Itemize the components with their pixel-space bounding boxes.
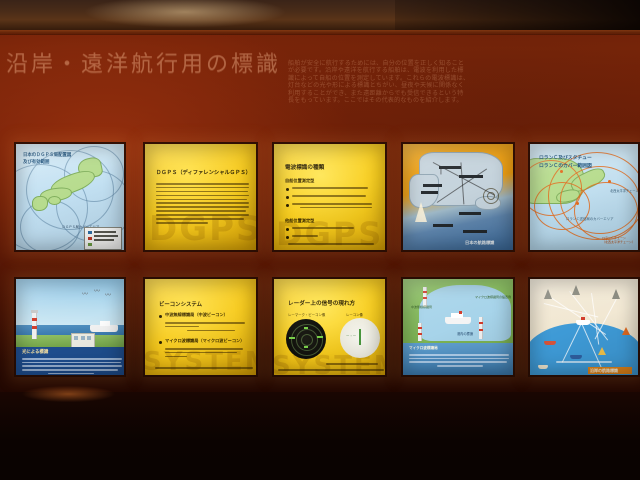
seagull-icon: 〰: [94, 286, 100, 295]
chain-label: 北西太平洋チェーン: [610, 188, 638, 193]
text-line: [156, 199, 247, 201]
chart-label-bar: [459, 212, 481, 215]
building-window: [74, 336, 78, 340]
text-line: [437, 365, 483, 367]
section-heading: 中波無線標識局（中波ビーコン）: [165, 312, 228, 318]
transmitter-marker: [560, 170, 563, 173]
map-title: ロランＣ及びスタチュー: [539, 154, 592, 161]
panel-lighthouse-scene[interactable]: 〰 〰 〰 光による標識: [14, 277, 126, 377]
text-line: [155, 367, 253, 369]
board-bottom-note: [278, 369, 384, 373]
description-line: 利用することができ、また遠距離からでも受信できるという特: [288, 90, 588, 97]
text-line: [292, 227, 354, 229]
text-line: [288, 243, 374, 245]
caption-title: 港内の標識: [457, 331, 473, 336]
list-bullet: [286, 236, 289, 239]
list-item: [288, 243, 374, 247]
racon-mark: ー・ー: [346, 333, 356, 338]
text-line: [165, 322, 245, 324]
panel-loran-chain[interactable]: ロランＣ及びスタチュー ロランＣのカバー範囲図 北西太平洋チェーン ロランＣ送信…: [528, 142, 640, 252]
text-line: [156, 206, 249, 208]
chart-caption: 日本の航路標識: [465, 240, 494, 246]
text-line: [292, 195, 366, 197]
beacon-tower-left: [423, 287, 427, 307]
building-window: [87, 336, 91, 340]
tower-band: [479, 322, 483, 324]
buoy-icon: [622, 327, 630, 335]
chart-caption: 沿岸の航路標識: [590, 368, 618, 374]
text-line: [22, 362, 121, 364]
list-bullet: [159, 315, 162, 318]
text-line: [156, 195, 249, 197]
panel-coastal-rays[interactable]: 沿岸の航路標識: [528, 277, 640, 377]
description-line: 灯台などの光や形による標識とちがい、昼夜や天候に関係なく: [288, 82, 588, 89]
sail-marker: [415, 202, 427, 222]
text-line: [156, 191, 248, 193]
list-bullet: [159, 341, 162, 344]
legend-swatch: [88, 243, 93, 246]
buoy-icon: [598, 347, 606, 355]
text-line: [409, 358, 509, 360]
radar-blip: [289, 337, 295, 339]
chart-label-bar: [439, 166, 461, 169]
text-line: [556, 361, 612, 363]
exhibit-description: 船舶が安全に航行するためには、自分の位置を正しく知ること が必要です。沿岸や遠洋…: [288, 60, 588, 104]
landmass-shikoku: [48, 196, 61, 205]
text-line: [22, 365, 122, 367]
text-line: [156, 218, 244, 220]
legend-label: [94, 235, 118, 237]
panel-dgps-explain[interactable]: DGPS ＤＧＰＳ（ディファレンシャルＧＰＳ）: [143, 142, 258, 252]
tower-band: [423, 291, 427, 293]
text-line: [156, 214, 249, 216]
chart-label-bar: [421, 191, 438, 194]
caption-paragraph: [22, 358, 122, 375]
boat: [538, 365, 548, 369]
exhibit-title: 沿岸・遠洋航行用の標識: [6, 48, 286, 82]
lighthouse-band: [418, 327, 422, 329]
panel-beacon-system[interactable]: SYSTEM ビーコンシステム 中波無線標識局（中波ビーコン） マイクロ波標識局…: [143, 277, 258, 377]
list-item: [292, 203, 372, 211]
list-item: [292, 227, 354, 231]
compass-rose-inner: [487, 192, 495, 200]
text-line: [165, 356, 187, 358]
board-footnote: [326, 363, 378, 367]
tower-band: [423, 297, 427, 299]
map-title: 日本のＤＧＰＳ局配置図: [23, 152, 71, 158]
legend-swatch: [88, 231, 93, 234]
text-line: [300, 207, 372, 209]
text-line: [165, 326, 199, 328]
section-footnote: [155, 367, 253, 371]
description-line: 長をもっています。ここではその代表的なものを紹介します。: [288, 97, 588, 104]
chart-label-bar: [433, 224, 453, 227]
right-diagram-caption: レーコン像: [346, 312, 363, 317]
radio-tower-icon: [612, 289, 620, 299]
radar-blip: [304, 327, 308, 329]
list-bullet: [286, 204, 289, 207]
text-line: [278, 369, 384, 371]
caption-paragraph: [409, 354, 509, 369]
list-bullet: [286, 188, 289, 191]
board-title: ＤＧＰＳ（ディファレンシャルＧＰＳ）: [156, 168, 251, 176]
text-line: [409, 354, 509, 356]
radio-tower-icon: [544, 289, 552, 299]
radar-blip: [304, 346, 308, 348]
text-line: [22, 369, 118, 371]
chart-label-bar: [423, 184, 442, 187]
list-bullet: [286, 228, 289, 231]
description-line: が必要です。沿岸や遠洋を航行する船舶は、電波を利用した標: [288, 67, 588, 74]
section-body: [165, 348, 243, 360]
floor-light-glow: [10, 382, 140, 406]
board-title: ビーコンシステム: [159, 300, 202, 308]
tower-band: [479, 329, 483, 331]
lighthouse: [418, 323, 422, 341]
chart-label-bar: [459, 175, 483, 178]
ceiling-shadow: [395, 0, 640, 33]
panel-bay-beacons[interactable]: マイクロ波標識局の設置例 中波無線標識局 港内の標識 マイクロ波標識局: [401, 277, 515, 377]
text-line: [292, 187, 368, 189]
text-line: [187, 330, 235, 332]
legend-label: [94, 231, 116, 233]
text-line: [48, 373, 94, 375]
panel-radio-beacon-types[interactable]: DGPS 電波標識の種類 自船位置測定型 他船位置測定型: [272, 142, 387, 252]
caption-title: 光による標識: [22, 349, 48, 355]
text-line: [156, 187, 249, 189]
radar-ring: [301, 334, 313, 346]
building-window: [81, 336, 85, 340]
text-line: [409, 361, 507, 363]
boat: [544, 341, 556, 345]
exhibit-photo: 沿岸・遠洋航行用の標識 船舶が安全に航行するためには、自分の位置を正しく知ること…: [0, 0, 640, 480]
beacon-tower-right: [479, 317, 483, 339]
ship-superstructure: [100, 321, 110, 326]
seagull-icon: 〰: [105, 290, 111, 299]
list-bullet: [286, 196, 289, 199]
lighthouse-lamp: [31, 310, 38, 313]
text-line: [156, 202, 249, 204]
text-line: [22, 358, 122, 360]
left-diagram-caption: レーマーク・ビーコン像: [288, 312, 325, 317]
side-note: 中波無線標識局: [411, 305, 432, 309]
ship: [445, 317, 471, 324]
ceiling-light-glow: [70, 0, 300, 30]
ship-funnel: [459, 311, 462, 314]
corner-note: マイクロ波標識局の設置例: [475, 295, 511, 299]
racon-sweep: [359, 329, 361, 345]
text-line: [165, 352, 237, 354]
ship: [90, 325, 118, 332]
text-line: [165, 348, 243, 350]
radio-tower-icon: [572, 285, 580, 295]
map-caption: ロランＣ送信局のカバーエリア: [566, 216, 613, 221]
boat: [576, 320, 590, 325]
lighthouse-band: [32, 318, 37, 321]
board-title: 電波標識の種類: [285, 163, 324, 171]
landmass-kyushu: [32, 196, 48, 211]
panel-harbour-chart[interactable]: 日本の航路標識: [401, 142, 515, 252]
lighthouse-band: [32, 326, 37, 329]
section-heading: 自船位置測定型: [285, 178, 314, 184]
transmitter-marker: [576, 202, 579, 205]
text-line: [156, 222, 208, 224]
seagull-icon: 〰: [82, 289, 88, 298]
board-paragraph: [156, 183, 249, 226]
map-subtitle: 及び有効範囲: [23, 159, 49, 165]
section-body: [165, 322, 245, 334]
text-line: [292, 203, 372, 205]
text-line: [156, 210, 246, 212]
board-title: レーダー上の信号の現れ方: [288, 299, 355, 307]
map-legend: [84, 227, 122, 250]
boat: [570, 355, 582, 359]
section-heading: 他船位置測定型: [285, 218, 314, 224]
panel-dgps-coverage-map[interactable]: 日本のＤＧＰＳ局配置図 及び有効範囲 ＤＧＰＳ局カバーエリア: [14, 142, 126, 252]
legend-label: [94, 239, 114, 241]
ceiling-edge: [0, 30, 640, 35]
section-heading: マイクロ波標識局（マイクロ波ビーコン）: [165, 338, 244, 344]
panel-radar-display[interactable]: SYSTEM レーダー上の信号の現れ方 レーマーク・ビーコン像 レーコン像 ー・…: [272, 277, 387, 377]
chart-label-bar: [463, 230, 487, 233]
text-line: [292, 235, 318, 237]
boat-flag: [581, 317, 585, 320]
list-item: [292, 195, 366, 199]
transmitter-marker: [608, 180, 611, 183]
lighthouse-band: [418, 333, 422, 335]
radar-blip: [317, 336, 323, 338]
text-line: [156, 183, 249, 185]
list-item: [292, 235, 318, 239]
map-subtitle: ロランＣのカバー範囲図: [539, 162, 592, 169]
corner-note: ロランＣチェーン （北西太平洋チェーン）: [602, 236, 635, 244]
text-line: [326, 363, 378, 365]
legend-swatch: [88, 237, 93, 240]
list-item: [292, 187, 368, 191]
lighthouse: [32, 313, 37, 339]
caption-heading: マイクロ波標識局: [409, 346, 438, 351]
chart-footnote: [556, 361, 612, 365]
